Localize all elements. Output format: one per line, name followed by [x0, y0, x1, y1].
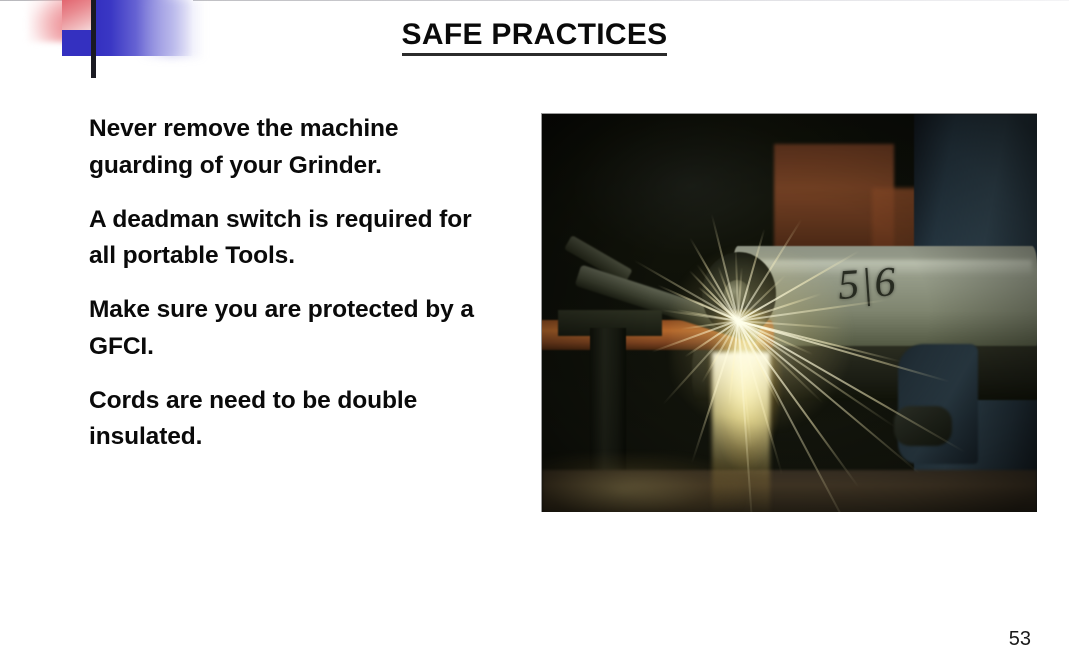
page-title-text: SAFE PRACTICES — [402, 18, 668, 56]
bullet-item: Make sure you are protected by a GFCI. — [89, 292, 517, 366]
bullet-list: Never remove the machine guarding of you… — [89, 111, 517, 456]
page-title: SAFE PRACTICES — [0, 18, 1069, 56]
slide-number: 53 — [1009, 628, 1031, 651]
bullet-item: Never remove the machine guarding of you… — [89, 111, 481, 185]
bullet-item: Cords are need to be double insulated. — [89, 383, 517, 457]
bullet-item: A deadman switch is required for all por… — [89, 202, 481, 276]
grinder-photo: 5|6 — [541, 113, 1037, 512]
photo-vignette — [542, 114, 1037, 512]
